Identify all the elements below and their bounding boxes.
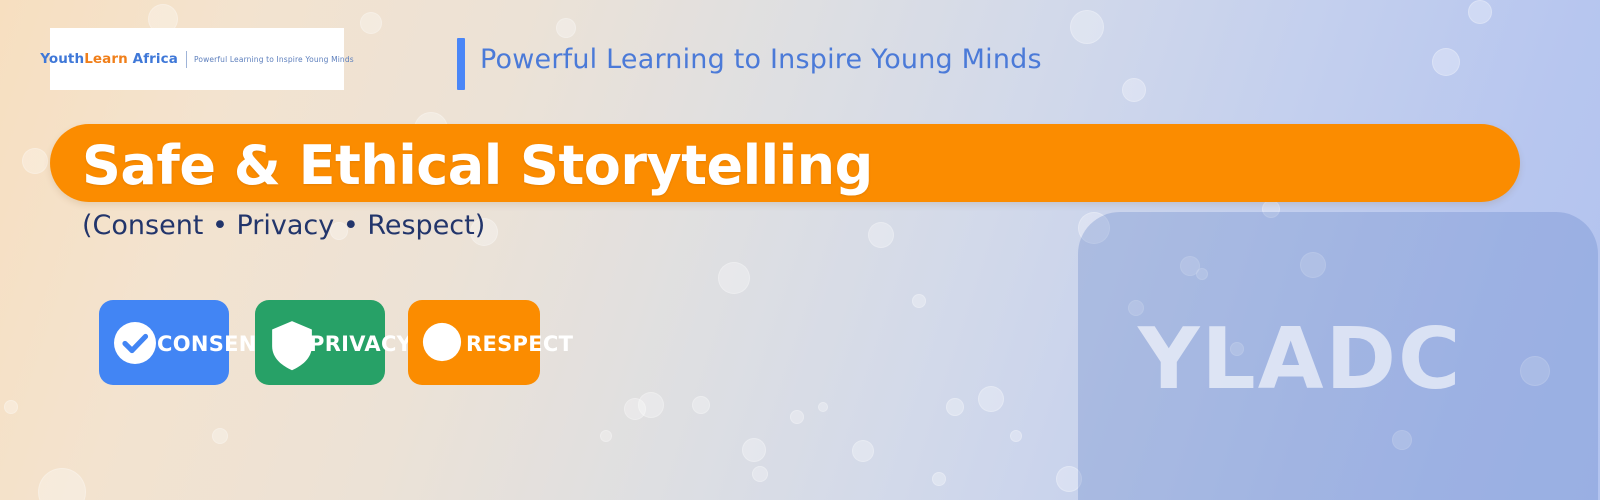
- tagline-accent-bar: [457, 38, 465, 90]
- bubble-icon: [978, 386, 1004, 412]
- hero-banner: YouthLearn Africa Powerful Learning to I…: [0, 0, 1600, 500]
- bubble-icon: [818, 402, 828, 412]
- bubble-icon: [1432, 48, 1460, 76]
- bubble-icon: [868, 222, 894, 248]
- bubble-icon: [600, 430, 612, 442]
- logo-text-youth: Youth: [40, 51, 84, 67]
- bubble-icon: [692, 396, 710, 414]
- bubble-icon: [912, 294, 926, 308]
- bubble-icon: [212, 428, 228, 444]
- bubble-icon: [790, 410, 804, 424]
- bubble-icon: [4, 400, 18, 414]
- circle-icon: [422, 322, 462, 362]
- bubble-icon: [624, 398, 646, 420]
- bubble-icon: [932, 472, 946, 486]
- logo-text-learn: Learn: [84, 51, 128, 67]
- bubble-icon: [22, 148, 48, 174]
- page-subtitle: (Consent • Privacy • Respect): [82, 210, 485, 241]
- bubble-icon: [742, 438, 766, 462]
- bubble-icon: [946, 398, 964, 416]
- bubble-icon: [1122, 78, 1146, 102]
- bubble-icon: [556, 18, 576, 38]
- logo-card: YouthLearn Africa Powerful Learning to I…: [50, 28, 344, 90]
- badge-label-privacy: PRIVACY: [309, 332, 412, 356]
- logo-text-africa: Africa: [133, 51, 178, 67]
- logo-lockup: YouthLearn Africa Powerful Learning to I…: [40, 51, 354, 68]
- bubble-icon: [38, 468, 86, 500]
- bubble-icon: [1070, 10, 1104, 44]
- bubble-icon: [638, 392, 664, 418]
- header-tagline: Powerful Learning to Inspire Young Minds: [480, 44, 1042, 75]
- badge-label-respect: RESPECT: [466, 332, 573, 356]
- watermark-text: YLADC: [1138, 310, 1462, 409]
- logo-divider: [186, 51, 187, 68]
- page-title: Safe & Ethical Storytelling: [82, 134, 873, 197]
- check-circle-icon: [113, 321, 157, 365]
- logo-tagline: Powerful Learning to Inspire Young Minds: [194, 55, 354, 64]
- bubble-icon: [360, 12, 382, 34]
- bubble-icon: [1468, 0, 1492, 24]
- bubble-icon: [1010, 430, 1022, 442]
- bubble-icon: [852, 440, 874, 462]
- bubble-icon: [752, 466, 768, 482]
- bubble-icon: [718, 262, 750, 294]
